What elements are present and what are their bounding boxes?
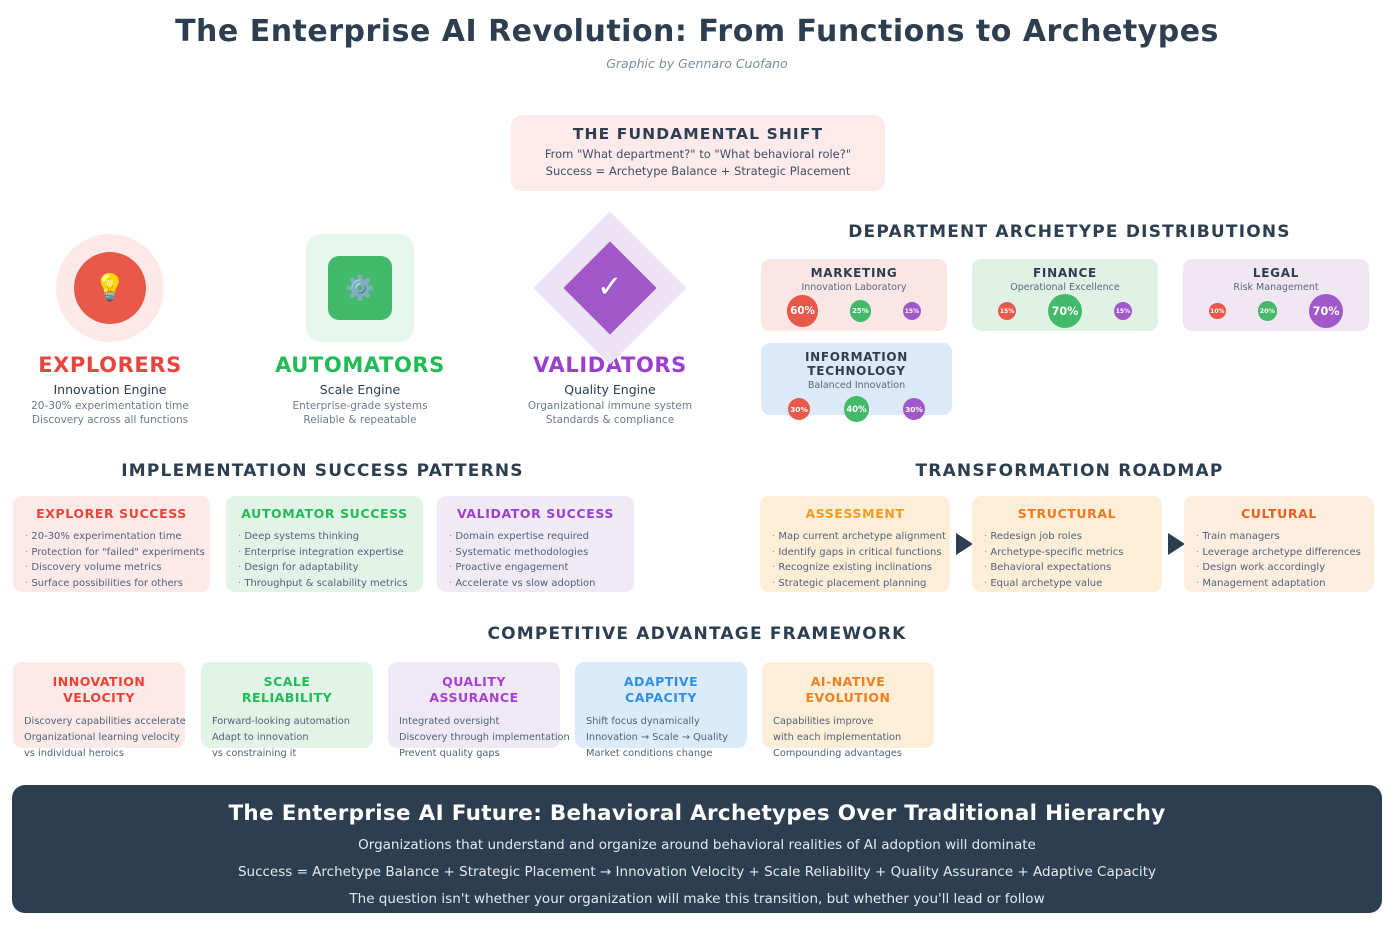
bubble-validator: 15% <box>903 302 921 320</box>
list-item: 20-30% experimentation time <box>25 529 198 545</box>
archetype-automators-subtitle: Scale Engine <box>250 382 470 397</box>
framework-card-lines: Forward-looking automation Adapt to inno… <box>212 714 362 762</box>
department-bubbles-marketing: 60% 25% 15% <box>761 294 947 328</box>
footer-line-2: Success = Archetype Balance + Strategic … <box>12 864 1382 880</box>
list-item: Systematic methodologies <box>449 545 622 561</box>
framework-line: vs constraining it <box>212 746 362 762</box>
framework-card-scale-reliability: SCALE RELIABILITY Forward-looking automa… <box>201 662 373 748</box>
framework-card-title-line1: QUALITY <box>442 674 506 689</box>
arrow-right-icon <box>1168 533 1185 555</box>
roadmap-card-items: Map current archetype alignment Identify… <box>772 529 938 591</box>
framework-line: Shift focus dynamically <box>586 714 736 730</box>
pattern-card-validator-success: VALIDATOR SUCCESS Domain expertise requi… <box>437 496 634 592</box>
archetype-automators-detail-2: Reliable & repeatable <box>250 414 470 427</box>
department-bubbles-legal: 10% 20% 70% <box>1183 294 1369 328</box>
list-item: Map current archetype alignment <box>772 529 938 545</box>
archetype-validators-subtitle: Quality Engine <box>500 382 720 397</box>
framework-card-title: INNOVATION VELOCITY <box>24 674 174 705</box>
department-name-it: INFORMATION TECHNOLOGY <box>761 350 952 378</box>
list-item: Strategic placement planning <box>772 576 938 592</box>
framework-card-title-line2: ASSURANCE <box>429 690 518 705</box>
bubble-validator: 30% <box>903 398 926 421</box>
department-subtitle-finance: Operational Excellence <box>972 282 1158 293</box>
framework-card-title-line2: CAPACITY <box>625 690 697 705</box>
archetype-explorers-subtitle: Innovation Engine <box>0 382 220 397</box>
gear-icon: ⚙️ <box>328 256 392 320</box>
footer-line-3: The question isn't whether your organiza… <box>12 891 1382 907</box>
bubble-automator: 25% <box>850 300 871 321</box>
bubble-automator: 40% <box>844 396 869 421</box>
pattern-card-title: EXPLORER SUCCESS <box>25 506 198 521</box>
department-subtitle-legal: Risk Management <box>1183 282 1369 293</box>
framework-card-title-line2: RELIABILITY <box>242 690 332 705</box>
list-item: Deep systems thinking <box>238 529 411 545</box>
lightbulb-icon: 💡 <box>74 252 146 324</box>
pattern-card-title: VALIDATOR SUCCESS <box>449 506 622 521</box>
framework-card-title: SCALE RELIABILITY <box>212 674 362 705</box>
archetype-explorers-detail-2: Discovery across all functions <box>0 414 220 427</box>
roadmap-card-cultural: CULTURAL Train managers Leverage archety… <box>1184 496 1374 592</box>
roadmap-card-title: STRUCTURAL <box>984 506 1150 521</box>
department-subtitle-marketing: Innovation Laboratory <box>761 282 947 293</box>
list-item: Identify gaps in critical functions <box>772 545 938 561</box>
footer-line-1: Organizations that understand and organi… <box>12 837 1382 853</box>
department-distributions-section: DEPARTMENT ARCHETYPE DISTRIBUTIONS MARKE… <box>757 222 1382 415</box>
framework-card-title-line1: SCALE <box>264 674 311 689</box>
list-item: Recognize existing inclinations <box>772 560 938 576</box>
roadmap-card-assessment: ASSESSMENT Map current archetype alignme… <box>760 496 950 592</box>
validator-halo: ✓ <box>534 212 687 365</box>
roadmap-card-title: ASSESSMENT <box>772 506 938 521</box>
bubble-explorer: 30% <box>788 398 811 421</box>
list-item: Equal archetype value <box>984 576 1150 592</box>
department-card-row: MARKETING Innovation Laboratory 60% 25% … <box>757 259 1382 331</box>
department-name-finance: FINANCE <box>972 266 1158 280</box>
framework-line: Capabilities improve <box>773 714 923 730</box>
framework-card-quality-assurance: QUALITY ASSURANCE Integrated oversight D… <box>388 662 560 748</box>
framework-card-title-line1: ADAPTIVE <box>624 674 698 689</box>
archetype-automators-name: AUTOMATORS <box>250 353 470 377</box>
pattern-card-title: AUTOMATOR SUCCESS <box>238 506 411 521</box>
framework-card-title: AI-NATIVE EVOLUTION <box>773 674 923 705</box>
page-title: The Enterprise AI Revolution: From Funct… <box>0 14 1394 49</box>
roadmap-card-structural: STRUCTURAL Redesign job roles Archetype-… <box>972 496 1162 592</box>
fundamental-shift-line-2: Success = Archetype Balance + Strategic … <box>511 164 885 180</box>
list-item: Train managers <box>1196 529 1362 545</box>
list-item: Redesign job roles <box>984 529 1150 545</box>
pattern-card-items: Domain expertise required Systematic met… <box>449 529 622 591</box>
bubble-automator: 20% <box>1258 301 1278 321</box>
framework-line: Prevent quality gaps <box>399 746 549 762</box>
department-subtitle-it: Balanced Innovation <box>761 380 952 391</box>
archetype-validators: ✓ VALIDATORS Quality Engine Organization… <box>500 229 720 428</box>
list-item: Proactive engagement <box>449 560 622 576</box>
fundamental-shift-card: THE FUNDAMENTAL SHIFT From "What departm… <box>511 115 885 191</box>
framework-card-title-line2: EVOLUTION <box>805 690 890 705</box>
list-item: Discovery volume metrics <box>25 560 198 576</box>
list-item: Surface possibilities for others <box>25 576 198 592</box>
archetype-validators-detail-2: Standards & compliance <box>500 414 720 427</box>
framework-line: Adapt to innovation <box>212 730 362 746</box>
framework-card-title-line2: VELOCITY <box>63 690 135 705</box>
framework-card-lines: Shift focus dynamically Innovation → Sca… <box>586 714 736 762</box>
roadmap-card-items: Redesign job roles Archetype-specific me… <box>984 529 1150 591</box>
list-item: Behavioral expectations <box>984 560 1150 576</box>
framework-line: with each implementation <box>773 730 923 746</box>
department-bubbles-it: 30% 40% 30% <box>761 392 952 426</box>
department-distributions-heading: DEPARTMENT ARCHETYPE DISTRIBUTIONS <box>757 222 1382 242</box>
archetype-automators: ⚙️ AUTOMATORS Scale Engine Enterprise-gr… <box>250 229 470 428</box>
framework-card-lines: Integrated oversight Discovery through i… <box>399 714 549 762</box>
arrow-right-icon <box>956 533 973 555</box>
checkmark-glyph: ✓ <box>597 273 622 303</box>
framework-line: Discovery through implementation <box>399 730 549 746</box>
pattern-card-explorer-success: EXPLORER SUCCESS 20-30% experimentation … <box>13 496 210 592</box>
framework-card-adaptive-capacity: ADAPTIVE CAPACITY Shift focus dynamicall… <box>575 662 747 748</box>
list-item: Enterprise integration expertise <box>238 545 411 561</box>
department-bubbles-finance: 15% 70% 15% <box>972 294 1158 328</box>
department-card-marketing: MARKETING Innovation Laboratory 60% 25% … <box>761 259 947 331</box>
framework-card-lines: Discovery capabilities accelerate Organi… <box>24 714 174 762</box>
archetype-explorers-icon-wrap: 💡 <box>0 229 220 347</box>
framework-line: Discovery capabilities accelerate <box>24 714 174 730</box>
fundamental-shift-line-1: From "What department?" to "What behavio… <box>511 147 885 163</box>
department-card-information-technology: INFORMATION TECHNOLOGY Balanced Innovati… <box>761 343 952 415</box>
department-name-marketing: MARKETING <box>761 266 947 280</box>
list-item: Protection for "failed" experiments <box>25 545 198 561</box>
checkmark-icon: ✓ <box>563 241 656 334</box>
list-item: Archetype-specific metrics <box>984 545 1150 561</box>
archetype-validators-icon-wrap: ✓ <box>500 229 720 347</box>
bubble-automator: 70% <box>1048 294 1082 328</box>
bubble-explorer: 15% <box>998 302 1016 320</box>
list-item: Leverage archetype differences <box>1196 545 1362 561</box>
competitive-framework-heading: COMPETITIVE ADVANTAGE FRAMEWORK <box>0 624 1394 644</box>
pattern-card-automator-success: AUTOMATOR SUCCESS Deep systems thinking … <box>226 496 423 592</box>
framework-line: Organizational learning velocity <box>24 730 174 746</box>
department-card-legal: LEGAL Risk Management 10% 20% 70% <box>1183 259 1369 331</box>
framework-line: vs individual heroics <box>24 746 174 762</box>
archetype-validators-detail-1: Organizational immune system <box>500 400 720 413</box>
framework-card-innovation-velocity: INNOVATION VELOCITY Discovery capabiliti… <box>13 662 185 748</box>
framework-card-title: ADAPTIVE CAPACITY <box>586 674 736 705</box>
framework-card-title-line1: INNOVATION <box>53 674 146 689</box>
framework-card-title: QUALITY ASSURANCE <box>399 674 549 705</box>
archetype-automators-icon-wrap: ⚙️ <box>250 229 470 347</box>
archetype-explorers-detail-1: 20-30% experimentation time <box>0 400 220 413</box>
bubble-explorer: 60% <box>787 295 818 326</box>
implementation-patterns-heading: IMPLEMENTATION SUCCESS PATTERNS <box>10 461 635 481</box>
bubble-validator: 70% <box>1309 294 1343 328</box>
byline: Graphic by Gennaro Cuofano <box>0 56 1394 71</box>
framework-card-title-line1: AI-NATIVE <box>811 674 886 689</box>
list-item: Design for adaptability <box>238 560 411 576</box>
pattern-card-items: Deep systems thinking Enterprise integra… <box>238 529 411 591</box>
department-name-legal: LEGAL <box>1183 266 1369 280</box>
list-item: Management adaptation <box>1196 576 1362 592</box>
list-item: Domain expertise required <box>449 529 622 545</box>
archetype-explorers: 💡 EXPLORERS Innovation Engine 20-30% exp… <box>0 229 220 428</box>
framework-card-ai-native-evolution: AI-NATIVE EVOLUTION Capabilities improve… <box>762 662 934 748</box>
bubble-explorer: 10% <box>1209 303 1226 320</box>
archetype-explorers-name: EXPLORERS <box>0 353 220 377</box>
automator-halo: ⚙️ <box>306 234 414 342</box>
fundamental-shift-title: THE FUNDAMENTAL SHIFT <box>511 125 885 143</box>
footer-title: The Enterprise AI Future: Behavioral Arc… <box>12 801 1382 826</box>
framework-line: Forward-looking automation <box>212 714 362 730</box>
bubble-validator: 15% <box>1114 302 1132 320</box>
transformation-roadmap-heading: TRANSFORMATION ROADMAP <box>757 461 1382 481</box>
framework-line: Market conditions change <box>586 746 736 762</box>
explorer-halo: 💡 <box>56 234 164 342</box>
framework-card-lines: Capabilities improve with each implement… <box>773 714 923 762</box>
roadmap-card-title: CULTURAL <box>1196 506 1362 521</box>
framework-line: Integrated oversight <box>399 714 549 730</box>
list-item: Accelerate vs slow adoption <box>449 576 622 592</box>
list-item: Throughput & scalability metrics <box>238 576 411 592</box>
department-card-finance: FINANCE Operational Excellence 15% 70% 1… <box>972 259 1158 331</box>
archetype-automators-detail-1: Enterprise-grade systems <box>250 400 470 413</box>
list-item: Design work accordingly <box>1196 560 1362 576</box>
framework-line: Compounding advantages <box>773 746 923 762</box>
pattern-card-items: 20-30% experimentation time Protection f… <box>25 529 198 591</box>
roadmap-card-items: Train managers Leverage archetype differ… <box>1196 529 1362 591</box>
framework-line: Innovation → Scale → Quality <box>586 730 736 746</box>
footer-banner: The Enterprise AI Future: Behavioral Arc… <box>12 785 1382 913</box>
